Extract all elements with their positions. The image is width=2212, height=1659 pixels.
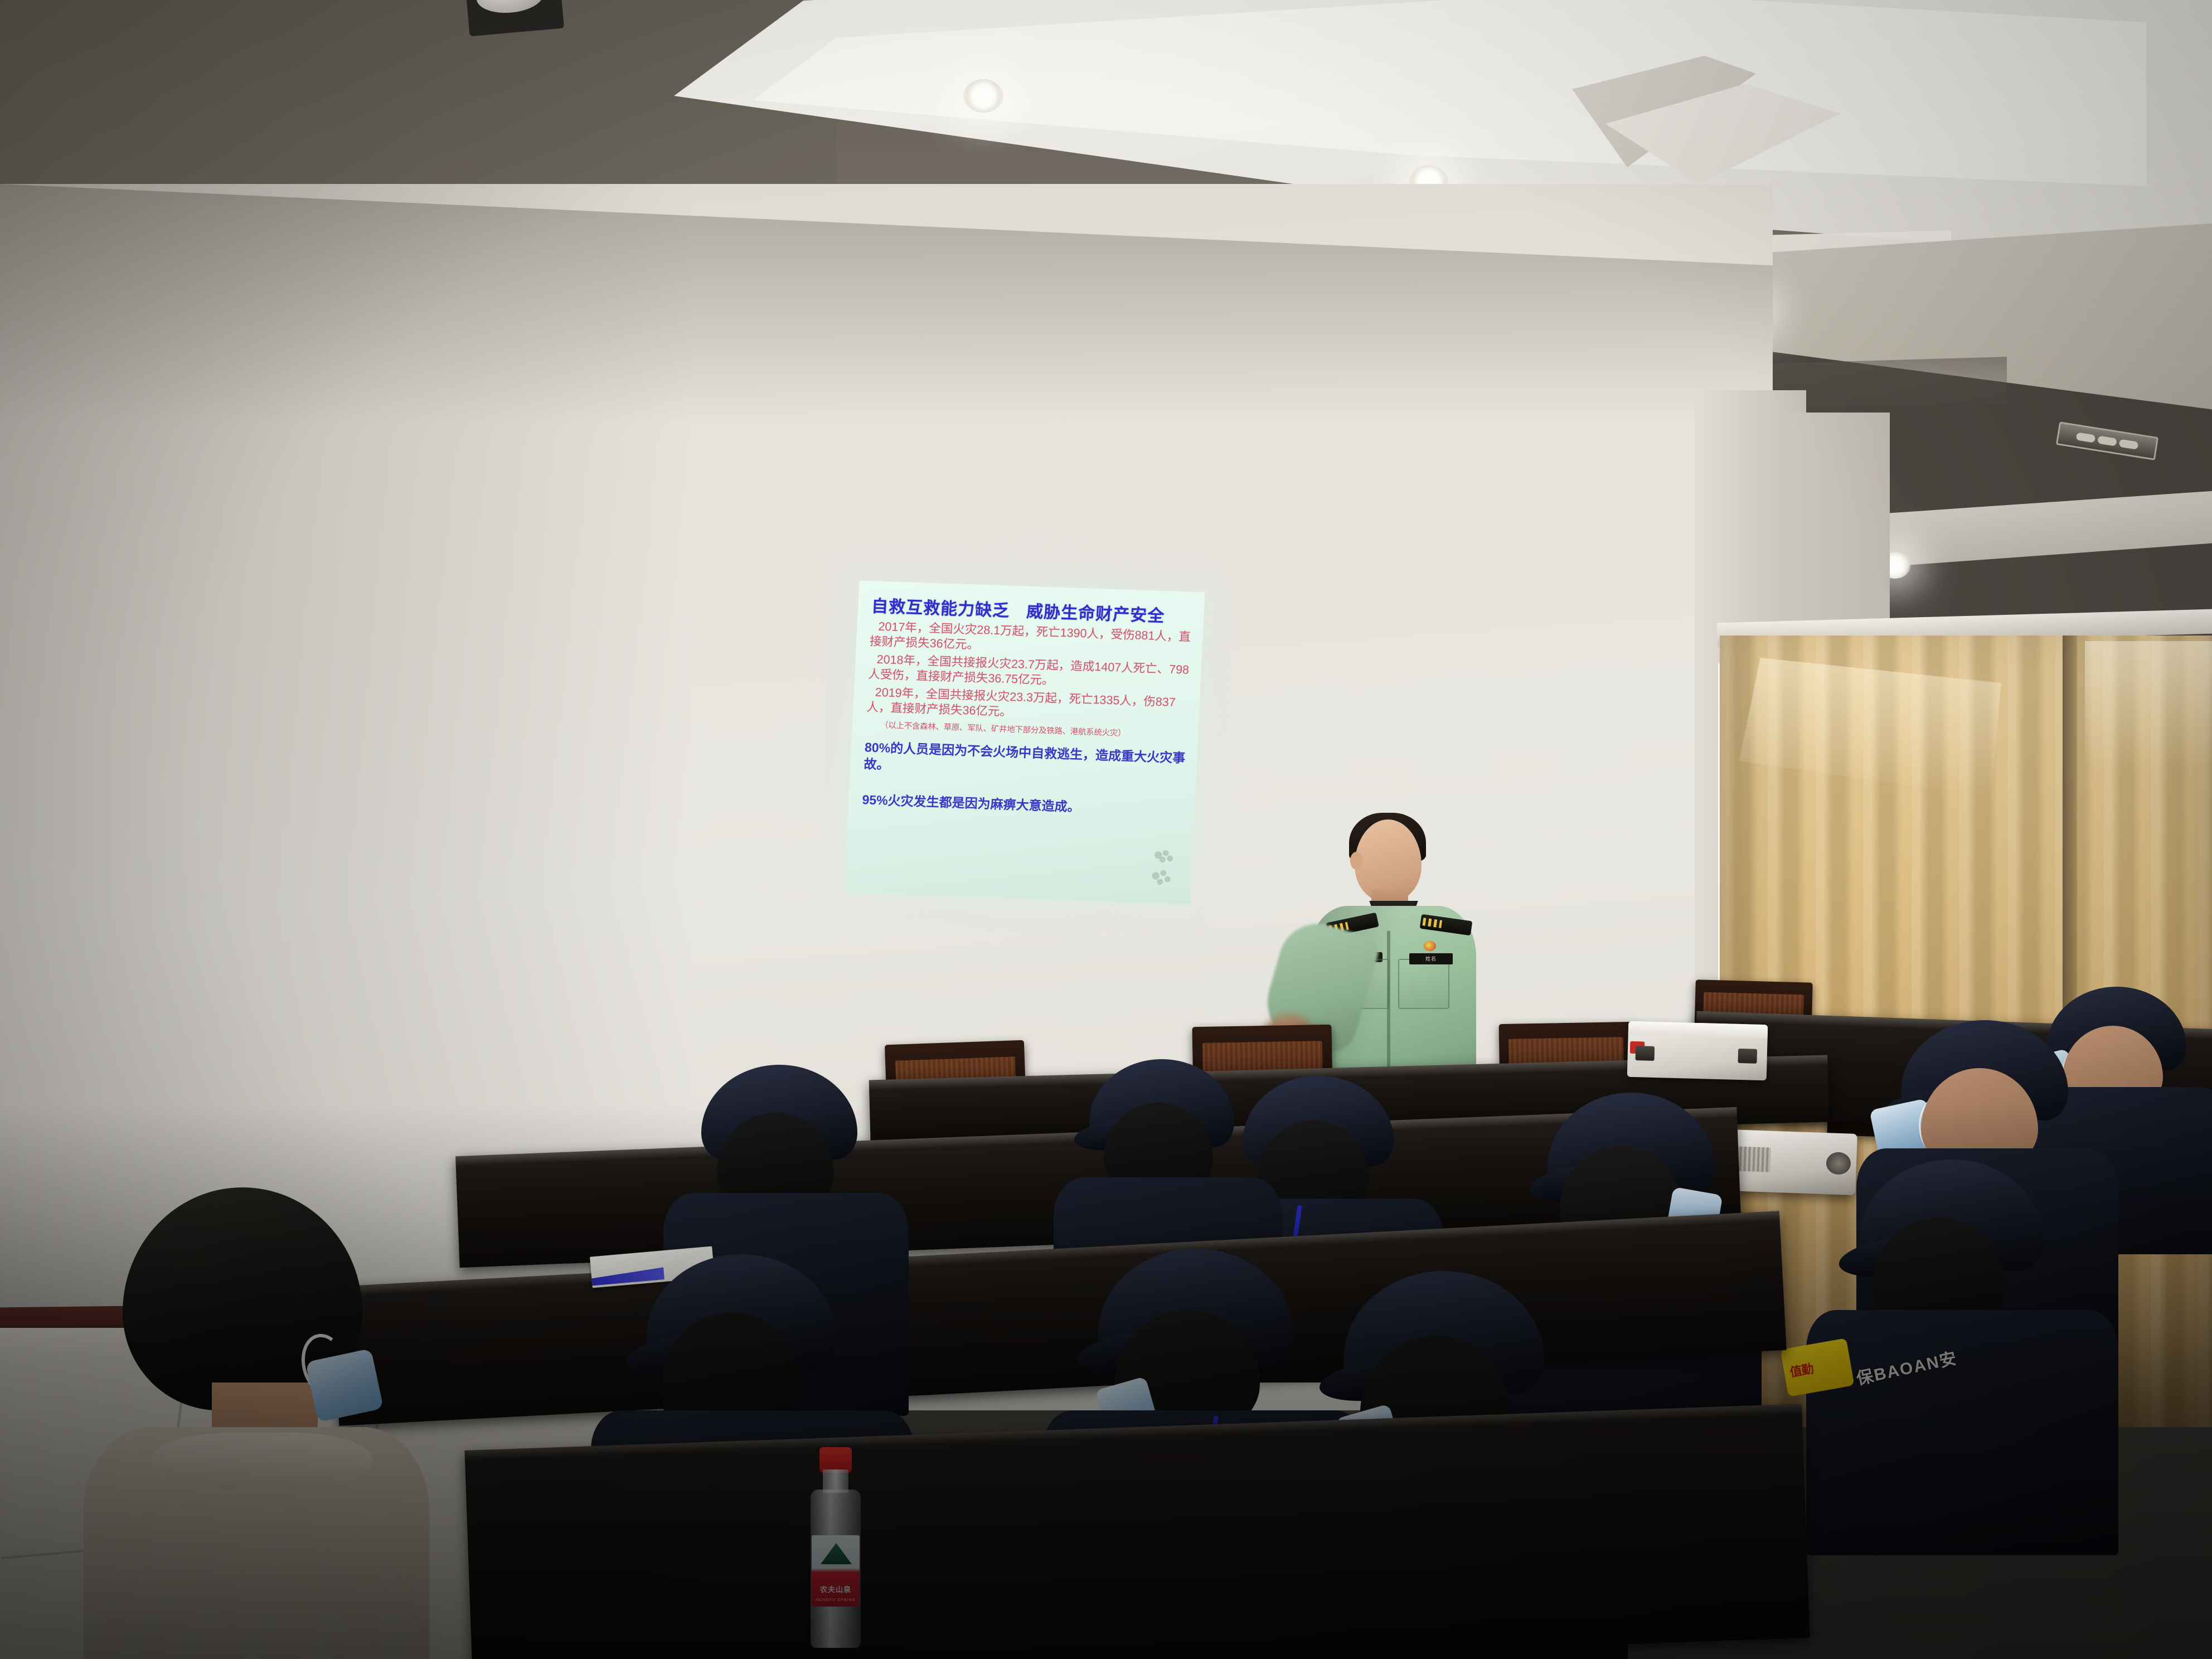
projector-carry-case[interactable] xyxy=(1627,1021,1768,1081)
downlight-icon xyxy=(963,79,1003,113)
air-vent-icon xyxy=(2056,421,2158,460)
meeting-room-photo: 自救互救能力缺乏 威胁生命财产安全 2017年，全国火灾28.1万起，死亡139… xyxy=(0,0,2212,1659)
slide-highlight-80: 80%的人员是因为不会火场中自救逃生，造成重大火灾事故。 xyxy=(864,739,1186,783)
presenter-ear xyxy=(1350,852,1362,870)
national-emblem-icon xyxy=(1424,941,1436,951)
bottle-label: 农夫山泉 NONGFU SPRING xyxy=(812,1535,860,1607)
presenter-name-badge-text: 姓名 xyxy=(1409,953,1453,964)
guard-jacket xyxy=(1806,1310,2118,1555)
clock-face xyxy=(475,0,545,16)
water-bottle[interactable]: 农夫山泉 NONGFU SPRING xyxy=(805,1447,865,1648)
presenter-pocket-right xyxy=(1398,959,1449,1009)
projected-slide: 自救互救能力缺乏 威胁生命财产安全 2017年，全国火灾28.1万起，死亡139… xyxy=(845,580,1205,904)
bottle-brand-cn: 农夫山泉 xyxy=(812,1584,860,1594)
presenter-name-badge: 姓名 xyxy=(1409,953,1453,964)
bottle-brand-en: NONGFU SPRING xyxy=(812,1598,860,1602)
mountain-logo-icon xyxy=(821,1543,852,1564)
curtain-daylight-patch xyxy=(2085,641,2212,769)
slide-highlight-95: 95%火灾发生都是因为麻痹大意造成。 xyxy=(862,792,1183,819)
slide-title-left: 自救互救能力缺乏 xyxy=(871,592,1010,621)
armband-text: 值勤 xyxy=(1788,1359,1815,1381)
civilian-collar xyxy=(151,1433,373,1488)
face-mask xyxy=(305,1348,384,1423)
flower-watermark-icon xyxy=(1146,847,1178,889)
list-item: 保BAOAN安 值勤 xyxy=(1806,1160,2107,1550)
slide-title-right: 威胁生命财产安全 xyxy=(1026,598,1165,627)
civilian-attendee-foreground xyxy=(84,1187,396,1659)
